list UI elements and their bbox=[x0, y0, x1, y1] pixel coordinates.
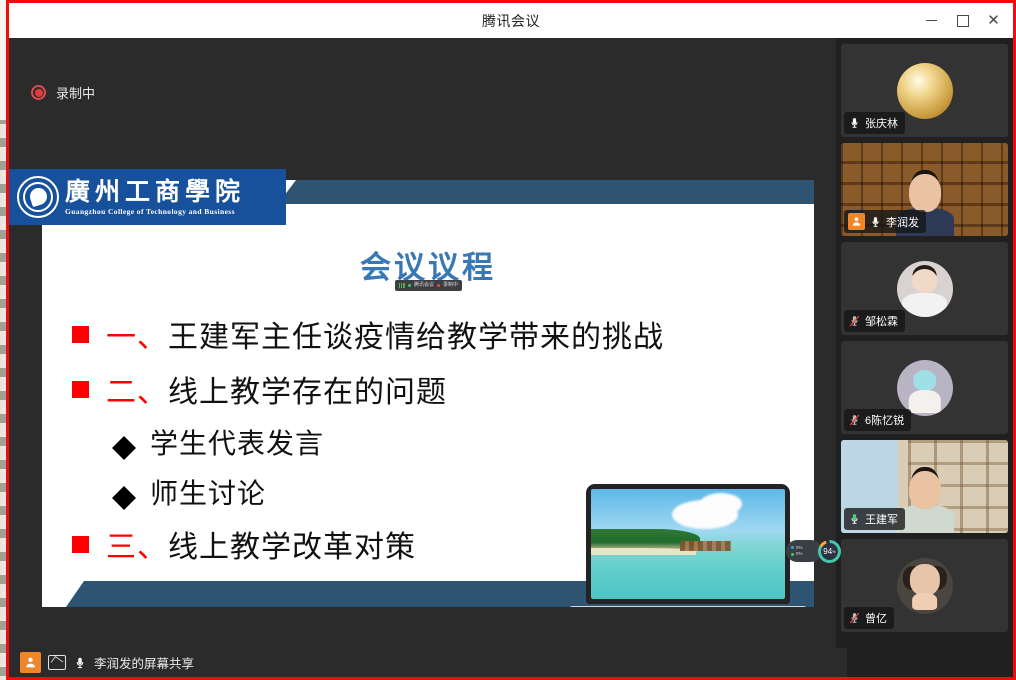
participant-tile[interactable]: 6陈忆锐 bbox=[841, 341, 1008, 434]
performance-percent: 94% bbox=[821, 543, 838, 560]
host-person-icon bbox=[851, 216, 862, 227]
participant-name-chip: 李润发 bbox=[844, 210, 926, 233]
minimize-button[interactable] bbox=[916, 3, 947, 38]
list-item: 学生代表发言 bbox=[72, 422, 792, 462]
participant-tile-active[interactable]: 王建军 bbox=[841, 440, 1008, 533]
square-bullet-icon bbox=[72, 326, 89, 343]
window-title: 腾讯会议 bbox=[482, 11, 540, 31]
bullet-number: 二、 bbox=[106, 367, 168, 411]
status-dot-icon bbox=[791, 546, 794, 549]
participant-name-chip: 邹松霖 bbox=[844, 310, 905, 332]
host-badge-icon bbox=[848, 213, 865, 230]
mini-toolbar-app: 腾讯会议 bbox=[414, 283, 434, 288]
record-dot-icon bbox=[31, 85, 46, 100]
participant-name: 邹松霖 bbox=[865, 313, 898, 329]
list-item: 一、 王建军主任谈疫情给教学带来的挑战 bbox=[72, 312, 792, 356]
avatar bbox=[897, 261, 953, 317]
bullet-number: 三、 bbox=[106, 522, 168, 566]
performance-widget[interactable]: 0% 0% 94% bbox=[786, 539, 844, 563]
square-bullet-icon bbox=[72, 536, 89, 553]
recording-label: 录制中 bbox=[56, 83, 95, 102]
participant-name-chip: 王建军 bbox=[844, 508, 905, 530]
presentation-slide: 会议议程 一、 王建军主任谈疫情给教学带来的挑战 二、 线上教学存在的问题 bbox=[42, 180, 814, 607]
microphone-muted-icon bbox=[848, 413, 861, 427]
record-dot-small-icon bbox=[437, 284, 440, 287]
share-status-text: 李润发的屏幕共享 bbox=[94, 653, 194, 672]
university-name-cn: 廣州工商學院 bbox=[65, 179, 245, 204]
share-status-bar: 李润发的屏幕共享 bbox=[9, 648, 847, 677]
bullet-number: 一、 bbox=[106, 312, 168, 356]
list-item: 二、 线上教学存在的问题 bbox=[72, 367, 792, 411]
maximize-icon bbox=[957, 15, 969, 27]
participant-name: 张庆林 bbox=[865, 115, 898, 131]
participant-tile[interactable]: 张庆林 bbox=[841, 44, 1008, 137]
performance-percent-value: 94 bbox=[823, 547, 832, 556]
participant-tile[interactable]: 曾亿 bbox=[841, 539, 1008, 632]
bullet-text: 学生代表发言 bbox=[150, 422, 324, 462]
microphone-icon bbox=[73, 655, 87, 671]
status-dot-icon bbox=[408, 284, 411, 287]
bullet-text: 线上教学改革对策 bbox=[168, 522, 416, 566]
microphone-muted-icon bbox=[848, 611, 861, 625]
mini-toolbar-status: 录制中 bbox=[443, 283, 458, 288]
microphone-muted-icon bbox=[848, 314, 861, 328]
diamond-bullet-icon bbox=[112, 424, 136, 448]
avatar bbox=[897, 558, 953, 614]
university-logo-text: 廣州工商學院 Guangzhou College of Technology a… bbox=[65, 179, 245, 216]
title-bar: 腾讯会议 ✕ bbox=[9, 3, 1013, 38]
laptop-base bbox=[570, 606, 806, 607]
participant-name: 6陈忆锐 bbox=[865, 412, 904, 428]
bullet-text: 师生讨论 bbox=[150, 472, 266, 512]
participant-name-chip: 张庆林 bbox=[844, 112, 905, 134]
meeting-body: 录制中 腾讯会议 录制中 会议议程 一、 bbox=[9, 38, 1013, 677]
participant-tile[interactable]: 邹松霖 bbox=[841, 242, 1008, 335]
participant-name: 曾亿 bbox=[865, 610, 887, 626]
close-button[interactable]: ✕ bbox=[978, 3, 1009, 38]
university-logo-banner: 廣州工商學院 Guangzhou College of Technology a… bbox=[9, 169, 286, 225]
shared-screen-stage: 腾讯会议 录制中 会议议程 一、 王建军主任谈疫情给教学带来的挑战 bbox=[9, 156, 836, 617]
participant-tile[interactable]: 李润发 bbox=[841, 143, 1008, 236]
microphone-icon bbox=[848, 512, 861, 526]
university-name-en: Guangzhou College of Technology and Busi… bbox=[65, 208, 245, 216]
bullet-text: 王建军主任谈疫情给教学带来的挑战 bbox=[168, 312, 664, 356]
square-bullet-icon bbox=[72, 381, 89, 398]
performance-ring-gauge: 94% bbox=[818, 540, 841, 563]
tencent-meeting-window: 腾讯会议 ✕ 录制中 腾讯会议 bbox=[9, 3, 1013, 677]
recording-badge: 录制中 bbox=[31, 83, 95, 102]
host-badge-icon bbox=[20, 652, 41, 673]
performance-value-2: 0% bbox=[796, 552, 803, 557]
minimize-icon bbox=[926, 20, 937, 21]
participant-name-chip: 6陈忆锐 bbox=[844, 409, 911, 431]
bullet-text: 线上教学存在的问题 bbox=[168, 367, 447, 411]
laptop-lid bbox=[586, 484, 790, 604]
person-face bbox=[909, 471, 941, 509]
participant-name: 王建军 bbox=[865, 511, 898, 527]
performance-percent-unit: % bbox=[832, 549, 836, 554]
close-icon: ✕ bbox=[987, 13, 1000, 28]
maximize-button[interactable] bbox=[947, 3, 978, 38]
laptop-screen-image bbox=[591, 489, 785, 599]
huts-shape bbox=[680, 541, 730, 551]
participant-name-chip: 曾亿 bbox=[844, 607, 894, 629]
shared-mini-toolbar: 腾讯会议 录制中 bbox=[395, 280, 462, 291]
laptop-illustration bbox=[570, 484, 806, 607]
status-dot-icon bbox=[791, 553, 794, 556]
avatar bbox=[897, 63, 953, 119]
host-person-icon bbox=[24, 656, 37, 669]
signal-icon bbox=[399, 283, 405, 288]
window-controls: ✕ bbox=[916, 3, 1009, 38]
participant-name: 李润发 bbox=[886, 214, 919, 230]
participant-sidebar[interactable]: 张庆林 bbox=[836, 38, 1013, 677]
video-person bbox=[903, 471, 947, 533]
screen-share-icon bbox=[48, 655, 66, 670]
microphone-icon bbox=[848, 116, 861, 130]
performance-pill: 0% 0% bbox=[786, 540, 822, 562]
person-face bbox=[909, 174, 941, 212]
diamond-bullet-icon bbox=[112, 474, 136, 498]
university-emblem-icon bbox=[17, 176, 59, 218]
avatar bbox=[897, 360, 953, 416]
performance-value-1: 0% bbox=[796, 546, 803, 551]
microphone-icon bbox=[869, 215, 882, 229]
